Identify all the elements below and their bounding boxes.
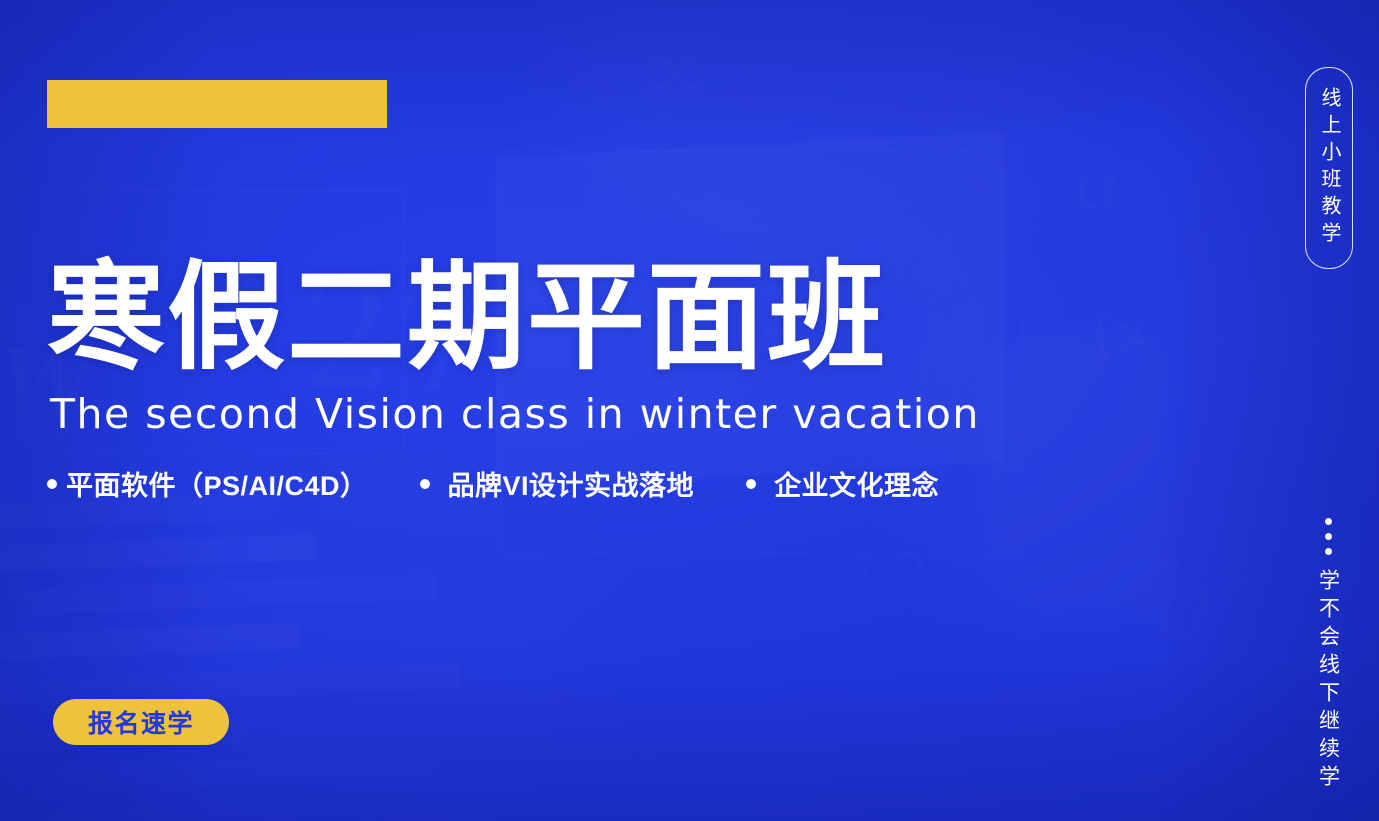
guarantee-note: 学不会线下继续学 (1307, 518, 1349, 793)
accent-bar (47, 80, 387, 128)
bullet-dot-icon (746, 479, 756, 489)
feature-item-vi-design: 品牌VI设计实战落地 (420, 464, 695, 503)
online-class-badge-label: 线上小班教学 (1319, 87, 1339, 249)
feature-label: 品牌VI设计实战落地 (448, 464, 695, 503)
feature-item-culture: 企业文化理念 (746, 464, 939, 503)
feature-item-software: 平面软件（PS/AI/C4D） (47, 464, 368, 503)
bullet-dot-icon (47, 479, 57, 489)
feature-list: 平面软件（PS/AI/C4D） 品牌VI设计实战落地 企业文化理念 (47, 464, 939, 503)
enroll-button[interactable]: 报名速学 (53, 699, 229, 745)
page-title: 寒假二期平面班 (47, 258, 887, 376)
three-dots-icon (1325, 518, 1332, 555)
banner-content: 寒假二期平面班 The second Vision class in winte… (0, 0, 1379, 821)
guarantee-label: 学不会线下继续学 (1318, 569, 1339, 793)
feature-label: 平面软件（PS/AI/C4D） (66, 464, 368, 503)
bullet-dot-icon (420, 479, 430, 489)
feature-label: 企业文化理念 (774, 464, 939, 503)
promo-banner: α b² ∞ ∫x 27 W 12 寒假二期平面班 The second Vis… (0, 0, 1379, 821)
online-class-badge: 线上小班教学 (1305, 67, 1353, 269)
page-subtitle: The second Vision class in winter vacati… (50, 392, 980, 437)
